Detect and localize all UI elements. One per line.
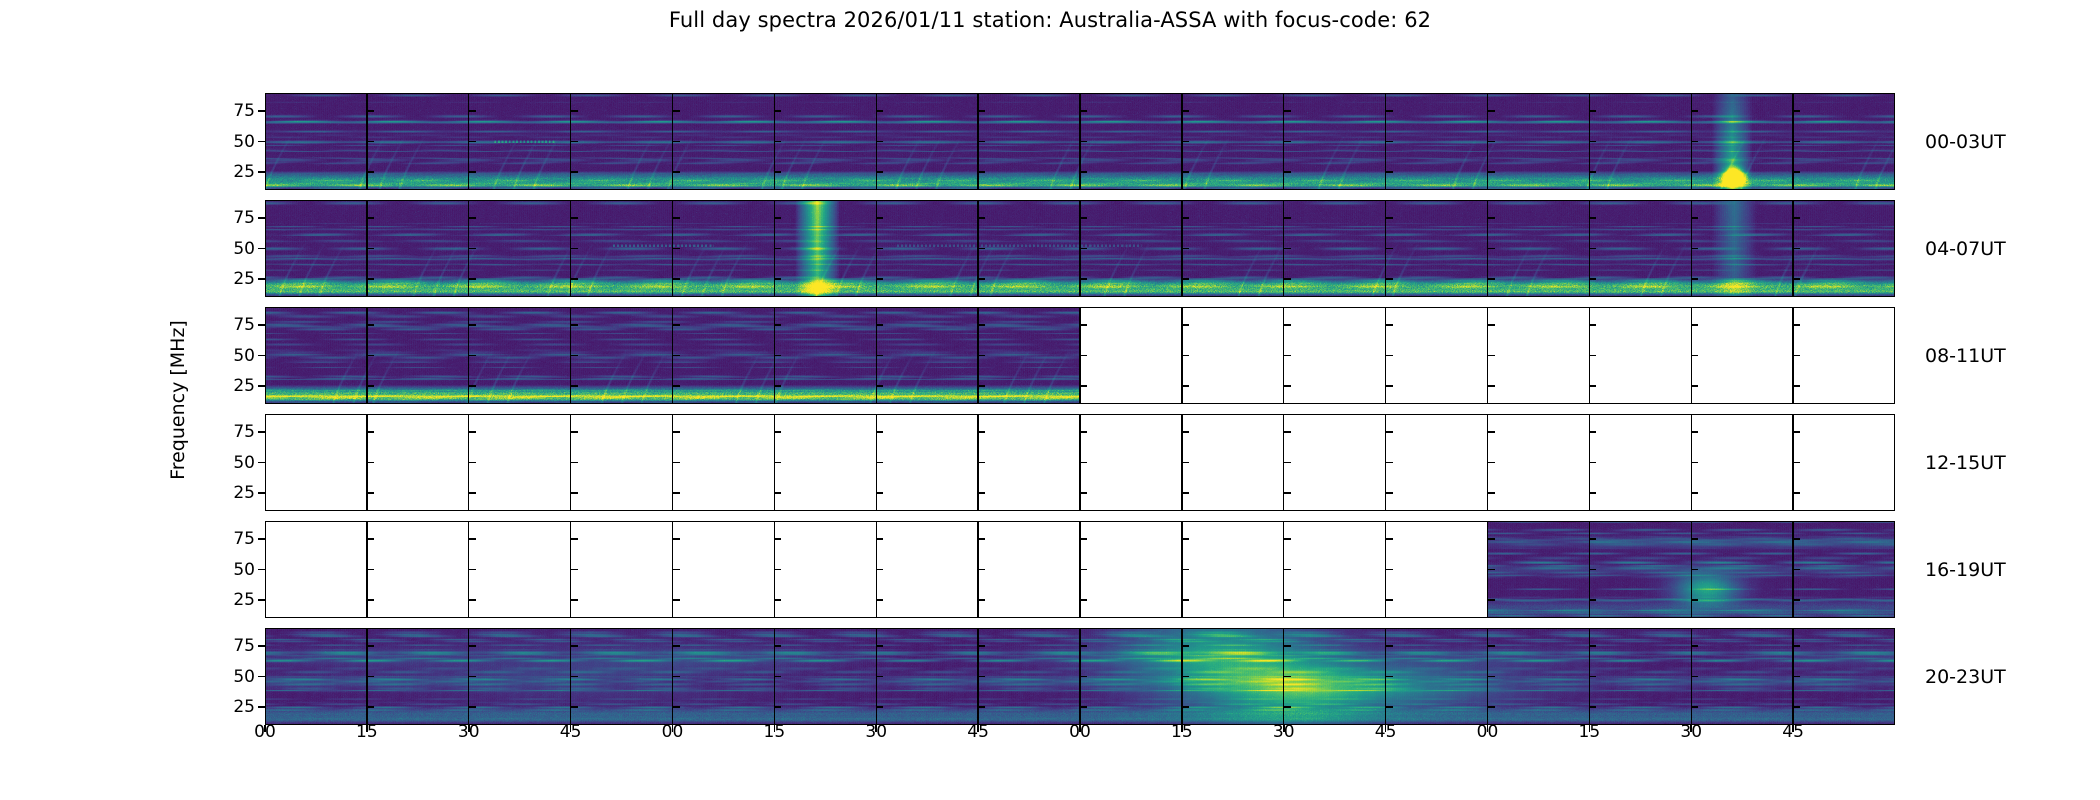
y-tick-mark-inner bbox=[1793, 538, 1800, 540]
x-tick-mark bbox=[977, 725, 979, 732]
y-tick-mark-inner bbox=[1793, 248, 1800, 250]
y-tick-mark-inner bbox=[774, 141, 781, 143]
y-tick-mark-inner bbox=[1488, 248, 1495, 250]
y-tick-mark bbox=[258, 645, 265, 647]
y-tick-mark-inner bbox=[876, 492, 883, 494]
y-tick-mark-inner bbox=[1589, 248, 1596, 250]
y-tick-mark-inner bbox=[1589, 462, 1596, 464]
y-tick-mark-inner bbox=[1589, 569, 1596, 571]
y-tick-mark-inner bbox=[876, 355, 883, 357]
y-tick-mark-inner bbox=[571, 141, 578, 143]
y-tick-mark-inner bbox=[876, 324, 883, 326]
y-tick-mark-inner bbox=[978, 645, 985, 647]
y-tick-mark-inner bbox=[1589, 676, 1596, 678]
y-tick-mark-inner bbox=[367, 706, 374, 708]
y-tick-mark-inner bbox=[1386, 110, 1393, 112]
y-tick-mark-inner bbox=[978, 217, 985, 219]
y-tick-mark-inner bbox=[1080, 492, 1087, 494]
y-tick-mark-inner bbox=[876, 248, 883, 250]
y-tick-mark-inner bbox=[1182, 492, 1189, 494]
y-tick-label: 50 bbox=[205, 453, 255, 473]
y-tick-label: 25 bbox=[205, 376, 255, 396]
y-tick-mark-inner bbox=[1488, 385, 1495, 387]
y-tick-mark-inner bbox=[1691, 538, 1698, 540]
y-tick-mark-inner bbox=[774, 171, 781, 173]
y-tick-mark-inner bbox=[1386, 706, 1393, 708]
y-tick-mark-inner bbox=[1691, 171, 1698, 173]
y-tick-mark-inner bbox=[1793, 462, 1800, 464]
y-tick-mark-inner bbox=[1284, 278, 1291, 280]
y-tick-mark bbox=[258, 278, 265, 280]
y-tick-mark-inner bbox=[1284, 431, 1291, 433]
y-tick-mark-inner bbox=[673, 492, 680, 494]
y-tick-label: 50 bbox=[205, 667, 255, 687]
y-tick-mark-inner bbox=[1080, 324, 1087, 326]
y-tick-mark-inner bbox=[1488, 599, 1495, 601]
y-tick-mark-inner bbox=[1691, 217, 1698, 219]
y-tick-mark-inner bbox=[876, 569, 883, 571]
y-tick-mark-inner bbox=[1589, 706, 1596, 708]
y-tick-mark-inner bbox=[571, 248, 578, 250]
y-tick-mark-inner bbox=[1386, 538, 1393, 540]
y-tick-mark-inner bbox=[1793, 569, 1800, 571]
y-tick-mark-inner bbox=[1488, 462, 1495, 464]
x-tick-mark bbox=[774, 725, 776, 732]
y-tick-mark-inner bbox=[1691, 141, 1698, 143]
spectrogram-row-16-19ut bbox=[265, 521, 1895, 618]
y-tick-mark-inner bbox=[774, 492, 781, 494]
y-tick-mark-inner bbox=[1589, 599, 1596, 601]
y-tick-mark-inner bbox=[1691, 492, 1698, 494]
y-tick-mark-inner bbox=[673, 676, 680, 678]
y-tick-mark-inner bbox=[1793, 278, 1800, 280]
y-tick-label: 50 bbox=[205, 346, 255, 366]
y-tick-mark-inner bbox=[673, 324, 680, 326]
y-tick-mark-inner bbox=[1793, 706, 1800, 708]
y-tick-mark-inner bbox=[673, 645, 680, 647]
y-tick-mark-inner bbox=[1182, 431, 1189, 433]
y-tick-mark-inner bbox=[978, 324, 985, 326]
y-tick-mark-inner bbox=[1488, 431, 1495, 433]
y-tick-mark-inner bbox=[1386, 385, 1393, 387]
y-tick-mark-inner bbox=[978, 278, 985, 280]
x-tick-mark bbox=[366, 725, 368, 732]
y-tick-label: 25 bbox=[205, 590, 255, 610]
spectrogram-row-00-03ut bbox=[265, 93, 1895, 190]
y-tick-mark-inner bbox=[367, 462, 374, 464]
y-tick-mark-inner bbox=[978, 569, 985, 571]
y-tick-mark-inner bbox=[571, 355, 578, 357]
y-tick-mark-inner bbox=[1182, 385, 1189, 387]
y-tick-mark-inner bbox=[571, 706, 578, 708]
y-tick-mark-inner bbox=[1386, 462, 1393, 464]
y-tick-mark-inner bbox=[673, 599, 680, 601]
y-tick-mark-inner bbox=[1080, 217, 1087, 219]
y-tick-mark-inner bbox=[469, 355, 476, 357]
y-tick-mark-inner bbox=[774, 462, 781, 464]
y-tick-mark-inner bbox=[1691, 569, 1698, 571]
y-tick-mark-inner bbox=[876, 385, 883, 387]
y-tick-mark-inner bbox=[876, 431, 883, 433]
x-tick-mark bbox=[1283, 725, 1285, 732]
y-tick-mark-inner bbox=[1080, 645, 1087, 647]
y-tick-mark-inner bbox=[571, 278, 578, 280]
y-tick-mark-inner bbox=[367, 492, 374, 494]
y-tick-mark-inner bbox=[1589, 171, 1596, 173]
y-tick-mark-inner bbox=[1589, 355, 1596, 357]
y-tick-label: 75 bbox=[205, 636, 255, 656]
y-tick-mark-inner bbox=[469, 538, 476, 540]
y-tick-mark bbox=[258, 676, 265, 678]
x-tick-mark bbox=[570, 725, 572, 732]
y-tick-mark-inner bbox=[469, 569, 476, 571]
y-tick-mark-inner bbox=[978, 676, 985, 678]
y-tick-mark-inner bbox=[469, 599, 476, 601]
figure-title: Full day spectra 2026/01/11 station: Aus… bbox=[0, 8, 2100, 32]
spectrogram-row-12-15ut bbox=[265, 414, 1895, 511]
y-tick-mark-inner bbox=[469, 431, 476, 433]
y-tick-mark-inner bbox=[876, 110, 883, 112]
y-tick-mark-inner bbox=[1793, 645, 1800, 647]
x-tick-mark bbox=[264, 725, 266, 732]
y-tick-mark-inner bbox=[367, 171, 374, 173]
y-tick-mark-inner bbox=[469, 324, 476, 326]
y-tick-mark-inner bbox=[1793, 385, 1800, 387]
y-tick-mark bbox=[258, 706, 265, 708]
y-tick-mark-inner bbox=[1284, 355, 1291, 357]
y-tick-mark-inner bbox=[571, 385, 578, 387]
y-tick-mark-inner bbox=[367, 324, 374, 326]
y-tick-mark-inner bbox=[1691, 676, 1698, 678]
y-tick-mark-inner bbox=[1182, 462, 1189, 464]
y-tick-mark-inner bbox=[1284, 706, 1291, 708]
y-tick-label: 75 bbox=[205, 315, 255, 335]
x-tick-mark bbox=[1589, 725, 1591, 732]
y-tick-label: 25 bbox=[205, 697, 255, 717]
y-tick-mark-inner bbox=[673, 217, 680, 219]
y-tick-mark-inner bbox=[978, 492, 985, 494]
y-tick-mark-inner bbox=[1182, 110, 1189, 112]
y-axis-label: Frequency [MHz] bbox=[167, 320, 189, 480]
y-tick-mark-inner bbox=[978, 385, 985, 387]
y-tick-mark-inner bbox=[1589, 645, 1596, 647]
y-tick-mark-inner bbox=[1793, 492, 1800, 494]
y-tick-mark-inner bbox=[367, 217, 374, 219]
y-tick-mark-inner bbox=[1589, 141, 1596, 143]
y-tick-mark-inner bbox=[1488, 355, 1495, 357]
y-tick-mark-inner bbox=[1284, 110, 1291, 112]
y-tick-mark-inner bbox=[1182, 324, 1189, 326]
y-tick-mark-inner bbox=[1488, 171, 1495, 173]
y-tick-mark-inner bbox=[1589, 385, 1596, 387]
y-tick-mark-inner bbox=[1386, 278, 1393, 280]
y-tick-mark-inner bbox=[1284, 324, 1291, 326]
y-tick-mark-inner bbox=[1080, 431, 1087, 433]
y-tick-mark-inner bbox=[469, 385, 476, 387]
row-label-16-19ut: 16-19UT bbox=[1925, 559, 2006, 581]
y-tick-mark-inner bbox=[1080, 110, 1087, 112]
y-tick-mark-inner bbox=[1284, 171, 1291, 173]
y-tick-mark-inner bbox=[1386, 248, 1393, 250]
y-tick-mark-inner bbox=[571, 538, 578, 540]
y-tick-mark-inner bbox=[1182, 569, 1189, 571]
y-tick-mark-inner bbox=[571, 599, 578, 601]
spectrogram-row-04-07ut bbox=[265, 200, 1895, 297]
y-tick-mark-inner bbox=[367, 676, 374, 678]
y-tick-mark-inner bbox=[469, 171, 476, 173]
y-tick-mark-inner bbox=[1080, 569, 1087, 571]
y-tick-mark-inner bbox=[1284, 538, 1291, 540]
y-tick-mark-inner bbox=[1386, 599, 1393, 601]
x-tick-mark bbox=[1385, 725, 1387, 732]
y-tick-mark-inner bbox=[978, 110, 985, 112]
y-tick-mark-inner bbox=[774, 278, 781, 280]
y-tick-mark-inner bbox=[1691, 599, 1698, 601]
y-tick-mark-inner bbox=[367, 385, 374, 387]
y-tick-label: 50 bbox=[205, 132, 255, 152]
y-tick-mark-inner bbox=[367, 599, 374, 601]
y-tick-mark-inner bbox=[1080, 355, 1087, 357]
row-label-04-07ut: 04-07UT bbox=[1925, 238, 2006, 260]
y-tick-mark-inner bbox=[1182, 538, 1189, 540]
y-tick-mark-inner bbox=[1182, 248, 1189, 250]
y-tick-mark-inner bbox=[876, 706, 883, 708]
row-label-00-03ut: 00-03UT bbox=[1925, 131, 2006, 153]
y-tick-mark-inner bbox=[774, 676, 781, 678]
y-tick-mark-inner bbox=[1284, 569, 1291, 571]
y-tick-mark-inner bbox=[1691, 431, 1698, 433]
y-tick-mark-inner bbox=[774, 706, 781, 708]
y-tick-mark-inner bbox=[1488, 676, 1495, 678]
y-tick-mark-inner bbox=[1386, 492, 1393, 494]
y-tick-mark-inner bbox=[1691, 706, 1698, 708]
y-tick-mark-inner bbox=[1488, 569, 1495, 571]
y-tick-mark-inner bbox=[571, 217, 578, 219]
y-tick-mark bbox=[258, 217, 265, 219]
y-tick-mark-inner bbox=[1080, 385, 1087, 387]
y-tick-mark-inner bbox=[876, 462, 883, 464]
y-tick-mark-inner bbox=[673, 171, 680, 173]
y-tick-mark-inner bbox=[1182, 599, 1189, 601]
y-tick-mark-inner bbox=[673, 706, 680, 708]
y-tick-mark-inner bbox=[469, 110, 476, 112]
y-tick-mark-inner bbox=[1793, 324, 1800, 326]
y-tick-label: 50 bbox=[205, 560, 255, 580]
x-tick-mark bbox=[875, 725, 877, 732]
y-tick-mark bbox=[258, 599, 265, 601]
y-tick-mark-inner bbox=[1080, 462, 1087, 464]
y-tick-mark-inner bbox=[1488, 706, 1495, 708]
y-tick-mark-inner bbox=[1488, 278, 1495, 280]
y-tick-mark-inner bbox=[367, 538, 374, 540]
y-tick-mark-inner bbox=[571, 492, 578, 494]
y-tick-mark-inner bbox=[1080, 706, 1087, 708]
y-tick-mark-inner bbox=[571, 676, 578, 678]
y-tick-mark-inner bbox=[1386, 569, 1393, 571]
y-tick-mark-inner bbox=[1284, 492, 1291, 494]
y-tick-mark-inner bbox=[1386, 355, 1393, 357]
y-tick-mark-inner bbox=[978, 538, 985, 540]
y-tick-label: 75 bbox=[205, 529, 255, 549]
y-tick-mark-inner bbox=[876, 217, 883, 219]
y-tick-mark-inner bbox=[1080, 141, 1087, 143]
y-tick-mark bbox=[258, 538, 265, 540]
y-tick-mark-inner bbox=[876, 538, 883, 540]
y-tick-mark-inner bbox=[1182, 706, 1189, 708]
y-tick-mark bbox=[258, 569, 265, 571]
x-tick-mark bbox=[1690, 725, 1692, 732]
y-tick-mark-inner bbox=[1182, 141, 1189, 143]
y-tick-mark-inner bbox=[469, 248, 476, 250]
y-tick-mark-inner bbox=[367, 645, 374, 647]
y-tick-mark-inner bbox=[774, 217, 781, 219]
y-tick-mark-inner bbox=[876, 278, 883, 280]
y-tick-mark bbox=[258, 355, 265, 357]
y-tick-mark-inner bbox=[1691, 248, 1698, 250]
y-tick-mark-inner bbox=[1386, 217, 1393, 219]
y-tick-mark-inner bbox=[1386, 431, 1393, 433]
y-tick-mark-inner bbox=[774, 599, 781, 601]
y-tick-mark-inner bbox=[469, 141, 476, 143]
y-tick-mark-inner bbox=[774, 248, 781, 250]
y-tick-mark-inner bbox=[1386, 645, 1393, 647]
y-tick-mark-inner bbox=[469, 706, 476, 708]
y-tick-mark-inner bbox=[673, 538, 680, 540]
y-tick-mark-inner bbox=[1284, 141, 1291, 143]
y-tick-mark-inner bbox=[1691, 385, 1698, 387]
y-tick-mark-inner bbox=[1691, 462, 1698, 464]
y-tick-mark-inner bbox=[1182, 355, 1189, 357]
x-tick-mark bbox=[672, 725, 674, 732]
y-tick-mark-inner bbox=[1691, 645, 1698, 647]
y-tick-mark-inner bbox=[978, 706, 985, 708]
y-tick-label: 25 bbox=[205, 483, 255, 503]
y-tick-mark-inner bbox=[1284, 217, 1291, 219]
y-tick-mark-inner bbox=[1080, 599, 1087, 601]
y-tick-mark-inner bbox=[1080, 171, 1087, 173]
spectrogram-row-08-11ut bbox=[265, 307, 1895, 404]
y-tick-mark-inner bbox=[1284, 248, 1291, 250]
y-tick-mark-inner bbox=[774, 355, 781, 357]
y-tick-mark-inner bbox=[774, 569, 781, 571]
y-tick-mark-inner bbox=[1589, 431, 1596, 433]
y-tick-mark-inner bbox=[1488, 217, 1495, 219]
y-tick-mark-inner bbox=[469, 645, 476, 647]
y-tick-mark-inner bbox=[978, 248, 985, 250]
y-tick-mark-inner bbox=[978, 355, 985, 357]
y-tick-mark-inner bbox=[1589, 217, 1596, 219]
y-tick-mark bbox=[258, 492, 265, 494]
y-tick-mark-inner bbox=[774, 110, 781, 112]
y-tick-mark-inner bbox=[1182, 278, 1189, 280]
y-tick-mark-inner bbox=[1386, 324, 1393, 326]
y-tick-mark-inner bbox=[1284, 385, 1291, 387]
y-tick-mark-inner bbox=[673, 110, 680, 112]
y-tick-mark-inner bbox=[367, 355, 374, 357]
y-tick-mark-inner bbox=[1386, 171, 1393, 173]
x-tick-mark bbox=[1181, 725, 1183, 732]
row-label-20-23ut: 20-23UT bbox=[1925, 666, 2006, 688]
y-tick-mark-inner bbox=[571, 569, 578, 571]
y-tick-mark-inner bbox=[876, 141, 883, 143]
y-tick-mark-inner bbox=[1793, 171, 1800, 173]
y-tick-label: 75 bbox=[205, 101, 255, 121]
y-tick-mark-inner bbox=[571, 110, 578, 112]
y-tick-mark bbox=[258, 141, 265, 143]
y-tick-mark-inner bbox=[978, 171, 985, 173]
y-tick-mark-inner bbox=[367, 141, 374, 143]
y-tick-mark-inner bbox=[978, 141, 985, 143]
y-tick-mark-inner bbox=[1793, 355, 1800, 357]
y-tick-mark-inner bbox=[469, 492, 476, 494]
y-tick-mark-inner bbox=[1793, 676, 1800, 678]
y-tick-mark-inner bbox=[1691, 110, 1698, 112]
y-tick-mark-inner bbox=[1589, 324, 1596, 326]
y-tick-mark-inner bbox=[1182, 217, 1189, 219]
y-tick-mark-inner bbox=[774, 385, 781, 387]
y-tick-mark-inner bbox=[1589, 110, 1596, 112]
y-tick-mark-inner bbox=[1589, 278, 1596, 280]
y-tick-mark-inner bbox=[1488, 492, 1495, 494]
y-tick-mark-inner bbox=[1182, 645, 1189, 647]
y-tick-mark-inner bbox=[1488, 645, 1495, 647]
y-tick-mark-inner bbox=[367, 431, 374, 433]
spectrogram-row-20-23ut bbox=[265, 628, 1895, 725]
y-tick-mark-inner bbox=[673, 248, 680, 250]
y-tick-mark-inner bbox=[1284, 462, 1291, 464]
y-tick-mark-inner bbox=[1080, 538, 1087, 540]
y-tick-mark-inner bbox=[978, 431, 985, 433]
y-tick-mark-inner bbox=[1284, 599, 1291, 601]
y-tick-mark-inner bbox=[469, 217, 476, 219]
y-tick-mark-inner bbox=[1793, 599, 1800, 601]
y-tick-mark-inner bbox=[774, 645, 781, 647]
y-tick-mark-inner bbox=[469, 278, 476, 280]
row-label-08-11ut: 08-11UT bbox=[1925, 345, 2006, 367]
y-tick-mark-inner bbox=[367, 278, 374, 280]
y-tick-mark-inner bbox=[469, 676, 476, 678]
y-tick-mark-inner bbox=[876, 171, 883, 173]
y-tick-mark-inner bbox=[774, 324, 781, 326]
y-tick-mark-inner bbox=[367, 248, 374, 250]
figure-canvas: Full day spectra 2026/01/11 station: Aus… bbox=[0, 0, 2100, 800]
y-tick-mark-inner bbox=[1793, 431, 1800, 433]
y-tick-label: 25 bbox=[205, 269, 255, 289]
y-tick-mark-inner bbox=[1793, 110, 1800, 112]
y-tick-mark-inner bbox=[1793, 217, 1800, 219]
y-tick-mark-inner bbox=[1386, 676, 1393, 678]
y-tick-mark-inner bbox=[1488, 141, 1495, 143]
y-tick-mark-inner bbox=[673, 569, 680, 571]
y-tick-mark-inner bbox=[978, 599, 985, 601]
y-tick-mark-inner bbox=[876, 676, 883, 678]
x-tick-mark bbox=[1487, 725, 1489, 732]
y-tick-mark-inner bbox=[1386, 141, 1393, 143]
x-tick-mark bbox=[1792, 725, 1794, 732]
y-tick-mark-inner bbox=[1182, 676, 1189, 678]
y-tick-mark-inner bbox=[1284, 645, 1291, 647]
y-tick-mark-inner bbox=[673, 355, 680, 357]
y-tick-mark-inner bbox=[1589, 492, 1596, 494]
y-tick-mark bbox=[258, 171, 265, 173]
y-tick-mark-inner bbox=[876, 599, 883, 601]
y-tick-mark-inner bbox=[673, 141, 680, 143]
y-tick-mark-inner bbox=[1488, 538, 1495, 540]
x-tick-mark bbox=[468, 725, 470, 732]
y-tick-mark bbox=[258, 248, 265, 250]
y-tick-mark-inner bbox=[1182, 171, 1189, 173]
y-tick-mark-inner bbox=[571, 171, 578, 173]
